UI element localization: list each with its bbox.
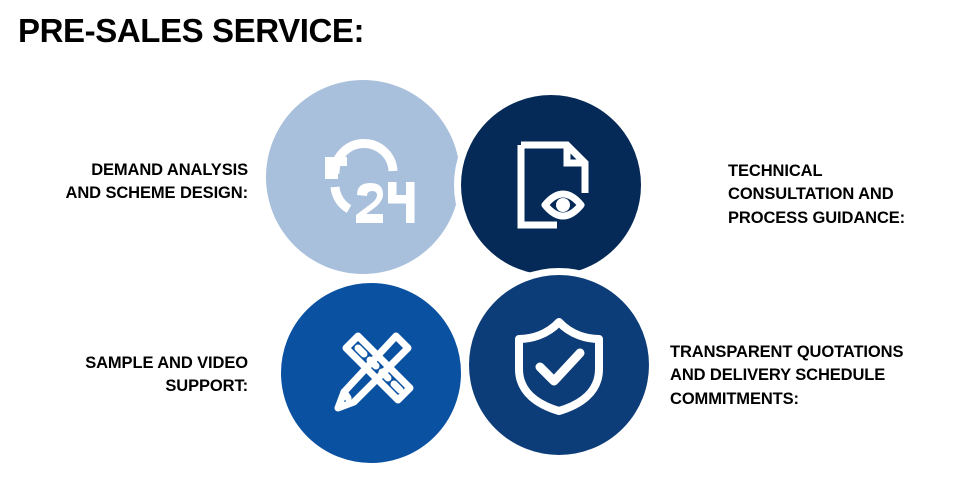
- label-sample-video-support: SAMPLE AND VIDEO SUPPORT:: [85, 352, 248, 399]
- label-line: AND DELIVERY SCHEDULE: [670, 364, 903, 387]
- circle-transparent-quotations[interactable]: [462, 268, 656, 462]
- service-circle-cluster: [266, 80, 676, 490]
- shield-check-icon: [469, 275, 649, 455]
- label-line: COMMITMENTS:: [670, 388, 903, 411]
- label-demand-analysis: DEMAND ANALYSIS AND SCHEME DESIGN:: [66, 159, 248, 206]
- label-technical-consultation: TECHNICAL CONSULTATION AND PROCESS GUIDA…: [728, 160, 905, 230]
- page-title: PRE-SALES SERVICE:: [18, 12, 364, 50]
- label-line: SAMPLE AND VIDEO: [85, 352, 248, 375]
- label-line: AND SCHEME DESIGN:: [66, 182, 248, 205]
- circle-technical-consultation[interactable]: [454, 88, 648, 282]
- label-line: CONSULTATION AND: [728, 183, 905, 206]
- label-line: TRANSPARENT QUOTATIONS: [670, 341, 903, 364]
- clock-24-rotate-icon: [266, 80, 460, 274]
- pen-ruler-icon: [281, 283, 461, 463]
- label-transparent-quotations: TRANSPARENT QUOTATIONS AND DELIVERY SCHE…: [670, 341, 903, 411]
- circle-sample-video-support[interactable]: [274, 276, 468, 470]
- label-line: SUPPORT:: [85, 375, 248, 398]
- document-eye-icon: [461, 95, 641, 275]
- circle-demand-analysis[interactable]: [266, 80, 460, 274]
- label-line: TECHNICAL: [728, 160, 905, 183]
- label-line: PROCESS GUIDANCE:: [728, 207, 905, 230]
- label-line: DEMAND ANALYSIS: [66, 159, 248, 182]
